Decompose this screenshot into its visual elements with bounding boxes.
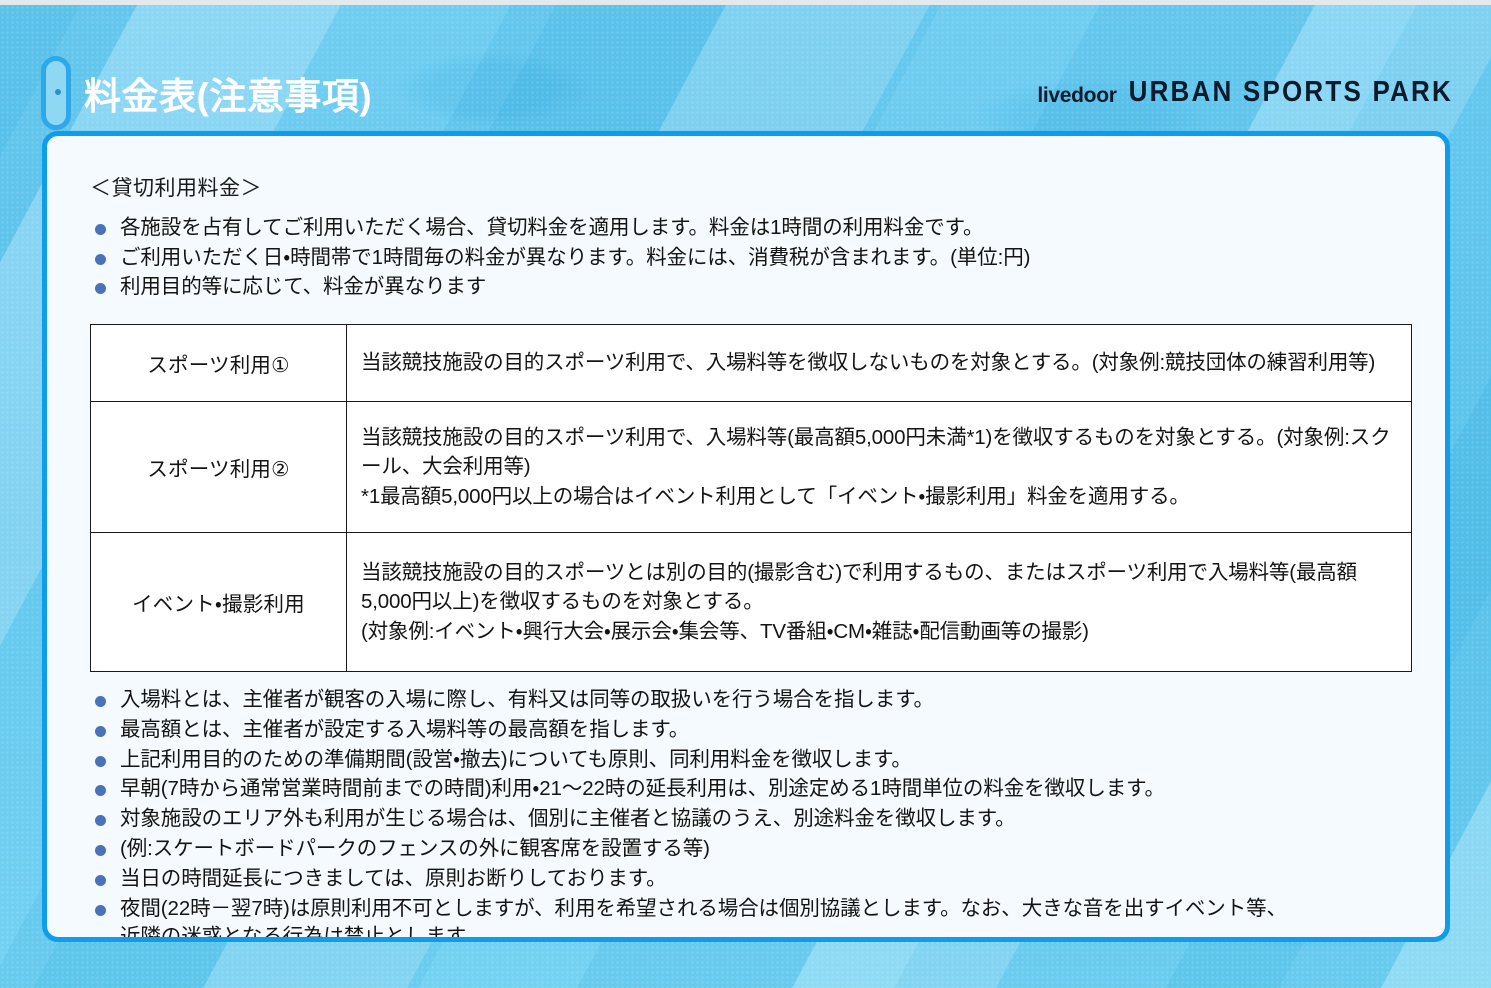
brand-livedoor-text: livedoor — [1037, 84, 1116, 108]
table-row: イベント・撮影利用 当該競技施設の目的スポーツとは別の目的(撮影含む)で利用する… — [91, 533, 1412, 672]
table-cell-description: 当該競技施設の目的スポーツ利用で、入場料等(最高額5,000円未満*1)を徴収す… — [347, 402, 1412, 533]
table-row: スポーツ利用② 当該競技施設の目的スポーツ利用で、入場料等(最高額5,000円未… — [91, 402, 1412, 533]
page-header: 料金表(注意事項) livedoor URBAN SPORTS PARK — [0, 26, 1491, 102]
content-card-inner: ＜貸切利用料金＞ 各施設を占有してご利用いただく場合、貸切料金を適用します。料金… — [47, 136, 1445, 937]
table-cell-description: 当該競技施設の目的スポーツとは別の目的(撮影含む)で利用するもの、またはスポーツ… — [347, 533, 1412, 672]
brand-logo: livedoor URBAN SPORTS PARK — [1037, 78, 1453, 109]
usage-category-table: スポーツ利用① 当該競技施設の目的スポーツ利用で、入場料等を徴収しないものを対象… — [90, 324, 1412, 672]
bottom-notes-list: 入場料とは、主催者が観客の入場に際し、有料又は同等の取扱いを行う場合を指します。… — [90, 686, 1405, 942]
bottom-notes-wrapper: 入場料とは、主催者が観客の入場に際し、有料又は同等の取扱いを行う場合を指します。… — [90, 686, 1405, 942]
table-cell-category: スポーツ利用① — [91, 325, 347, 402]
list-item: 上記利用目的のための準備期間(設営・撤去)についても原則、同利用料金を徴収します… — [90, 746, 1405, 774]
table-cell-category: イベント・撮影利用 — [91, 533, 347, 672]
list-item: 入場料とは、主催者が観客の入場に際し、有料又は同等の取扱いを行う場合を指します。 — [90, 686, 1405, 714]
table-cell-description: 当該競技施設の目的スポーツ利用で、入場料等を徴収しないものを対象とする。(対象例… — [347, 325, 1412, 402]
list-item: (例:スケートボードパークのフェンスの外に観客席を設置する等) — [90, 835, 1405, 863]
list-item: ご利用いただく日・時間帯で1時間毎の料金が異なります。料金には、消費税が含まれま… — [90, 244, 1405, 273]
content-card: ＜貸切利用料金＞ 各施設を占有してご利用いただく場合、貸切料金を適用します。料金… — [42, 131, 1450, 942]
top-notes-list: 各施設を占有してご利用いただく場合、貸切料金を適用します。料金は1時間の利用料金… — [90, 214, 1405, 302]
list-item: 夜間(22時－翌7時)は原則利用不可としますが、利用を希望される場合は個別協議と… — [90, 895, 1405, 942]
page-root: 料金表(注意事項) livedoor URBAN SPORTS PARK ＜貸切… — [0, 0, 1491, 988]
list-item: 各施設を占有してご利用いただく場合、貸切料金を適用します。料金は1時間の利用料金… — [90, 214, 1405, 243]
brand-urban-sports-park-text: URBAN SPORTS PARK — [1129, 74, 1453, 109]
list-item: 対象施設のエリア外も利用が生じる場合は、個別に主催者と協議のうえ、別途料金を徴収… — [90, 805, 1405, 833]
table-row: スポーツ利用① 当該競技施設の目的スポーツ利用で、入場料等を徴収しないものを対象… — [91, 325, 1412, 402]
table-cell-category: スポーツ利用② — [91, 402, 347, 533]
page-title: 料金表(注意事項) — [84, 66, 372, 120]
list-item: 当日の時間延長につきましては、原則お断りしております。 — [90, 865, 1405, 893]
top-edge-divider — [0, 0, 1491, 5]
door-icon — [41, 56, 71, 130]
list-item: 早朝(7時から通常営業時間前までの時間)利用・21～22時の延長利用は、別途定め… — [90, 775, 1405, 803]
section-heading-private-rental-fee: ＜貸切利用料金＞ — [90, 172, 1405, 202]
list-item: 最高額とは、主催者が設定する入場料等の最高額を指します。 — [90, 716, 1405, 744]
list-item: 利用目的等に応じて、料金が異なります — [90, 273, 1405, 302]
